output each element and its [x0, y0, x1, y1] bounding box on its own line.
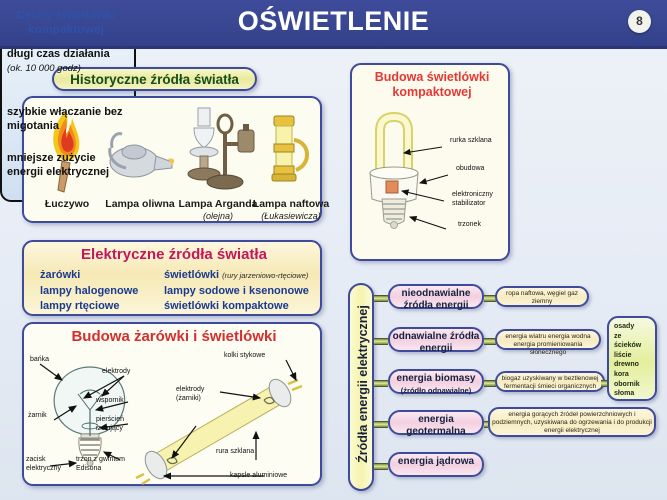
cfl-feature-1-text: szybkie włączanie bez migotania: [7, 106, 127, 133]
argand-lamp-icon: [180, 104, 256, 196]
electric-sources-column-left: żarówki lampy halogenowe lampy rtęciowe: [40, 268, 138, 315]
cfl-feature-1: szybkie włączanie bez migotania: [7, 106, 127, 133]
connector-spine-0: [374, 295, 388, 302]
cfl-label-stabilizator: elektroniczny stabilizator: [452, 191, 502, 208]
energy-category-4-label: energia jądrowa: [398, 456, 474, 467]
historic-item-label-3: Lampa naftowa: [250, 198, 332, 210]
bulb-construction-title: Budowa żarówki i świetlówki: [24, 328, 324, 345]
energy-category-1: odnawialne źródła energii: [388, 327, 484, 352]
electric-item-4: lampy sodowe i ksenonowe: [164, 284, 309, 300]
cfl-construction-title: Budowa świetlówki kompaktowej: [352, 70, 512, 100]
connector-spine-2: [374, 380, 388, 387]
electric-sources-panel: Elektryczne źródła światła żarówki lampy…: [22, 240, 322, 316]
energy-category-3: energia geotermalna: [388, 410, 484, 435]
connector-spine-1: [374, 338, 388, 345]
tube-label-rura: rura szklana: [216, 448, 254, 457]
energy-sources-spine: Źródła energii elektrycznej: [348, 283, 374, 491]
energy-category-0-label: nieodnawialne źródła energii: [402, 288, 471, 311]
bulb-label-zarnik: żarnik: [28, 412, 47, 421]
cfl-feature-2: mniejsze zużycie energii elektrycznej: [7, 152, 127, 179]
energy-category-2: energia biomasy (źródło odnawialne): [388, 369, 484, 394]
energy-category-3-label: energia geotermalna: [406, 414, 465, 437]
energy-sources-flowchart: Źródła energii elektrycznej nieodnawialn…: [348, 283, 660, 495]
tube-label-elektrody: elektrody (żarniki): [176, 386, 216, 403]
cfl-diagram: [358, 105, 478, 257]
cfl-label-rurka: rurka szklana: [450, 137, 492, 146]
electric-item-3-label: świetlówki: [164, 269, 219, 281]
cfl-title-line2: kompaktowej: [352, 85, 512, 100]
bulb-construction-panel: Budowa żarówki i świetlówki: [22, 322, 322, 486]
energy-description-2: biogaz uzyskiwany w beztlenowej fermenta…: [495, 371, 605, 392]
electric-item-3: świetlówki (rury jarzeniowo-rtęciowe): [164, 268, 309, 284]
electric-item-1: lampy halogenowe: [40, 284, 138, 300]
energy-sources-spine-label: Źródła energii elektrycznej: [356, 280, 370, 488]
historic-item-sub-3: (Łukasiewicza): [250, 211, 332, 221]
bulb-label-banka: bańka: [30, 356, 49, 365]
cfl-features-title-line2: kompaktowej: [0, 22, 132, 36]
energy-category-4: energia jądrowa: [388, 452, 484, 477]
cfl-feature-0-text: długi czas działania: [7, 48, 127, 62]
kerosene-lamp-icon: [260, 104, 318, 196]
bulb-label-zacisk: zacisk elektryczny: [26, 456, 60, 473]
page-number-badge: 8: [628, 10, 651, 33]
energy-description-0: ropa naftowa, węgiel gaz ziemny: [495, 286, 589, 307]
energy-description-3: energia gorących źródeł powierzchniowych…: [488, 407, 656, 437]
cfl-features-title-line1: Cechy świetlówki: [0, 8, 132, 22]
cfl-feature-2-text: mniejsze zużycie energii elektrycznej: [7, 152, 127, 179]
cfl-label-obudowa: obudowa: [456, 165, 484, 174]
cfl-feature-0-note: (ok. 10 000 godz): [7, 62, 127, 76]
bulb-label-trzon: trzon z gwintem Edisona: [76, 456, 128, 473]
electric-item-5: świetlówki kompaktowe: [164, 299, 309, 315]
electric-item-3-note: (rury jarzeniowo-rtęciowe): [222, 271, 308, 280]
cfl-construction-panel: Budowa świetlówki kompaktowej: [350, 63, 510, 261]
cfl-features-title: Cechy świetlówki kompaktowej: [0, 8, 132, 36]
cfl-title-line1: Budowa świetlówki: [352, 70, 512, 85]
energy-category-1-label: odnawialne źródła energii: [393, 331, 480, 354]
energy-category-2-sub: (źródło odnawialne): [390, 385, 482, 397]
bulb-label-wspornik: wspornik: [96, 397, 124, 406]
bulb-label-pierscien: pierścień izolujący: [96, 416, 136, 433]
bulb-label-elektrody: elektrody: [102, 368, 130, 377]
energy-description-1: energia wiatru energia wodna energia pro…: [495, 329, 601, 350]
connector-spine-4: [374, 463, 388, 470]
energy-category-0: nieodnawialne źródła energii: [388, 284, 484, 309]
cfl-feature-0: długi czas działania (ok. 10 000 godz): [7, 48, 127, 75]
electric-item-0: żarówki: [40, 268, 138, 284]
poster-page: OŚWIETLENIE 8 Historyczne źródła światła…: [0, 0, 667, 500]
connector-spine-3: [374, 421, 388, 428]
biomass-materials-box: osady ze ścieków liście drewno kora obor…: [607, 316, 657, 401]
cfl-label-trzonek: trzonek: [458, 221, 481, 230]
electric-item-2: lampy rtęciowe: [40, 299, 138, 315]
energy-category-2-label: energia biomasy: [397, 373, 476, 384]
bulb-and-tube-diagram: [24, 348, 324, 488]
tube-label-kolki: kolki stykowe: [224, 352, 265, 361]
tube-label-kapsle: kapsle aluminiowe: [230, 472, 287, 481]
electric-sources-title: Elektryczne źródła światła: [24, 246, 324, 263]
electric-sources-column-right: świetlówki (rury jarzeniowo-rtęciowe) la…: [164, 268, 309, 315]
